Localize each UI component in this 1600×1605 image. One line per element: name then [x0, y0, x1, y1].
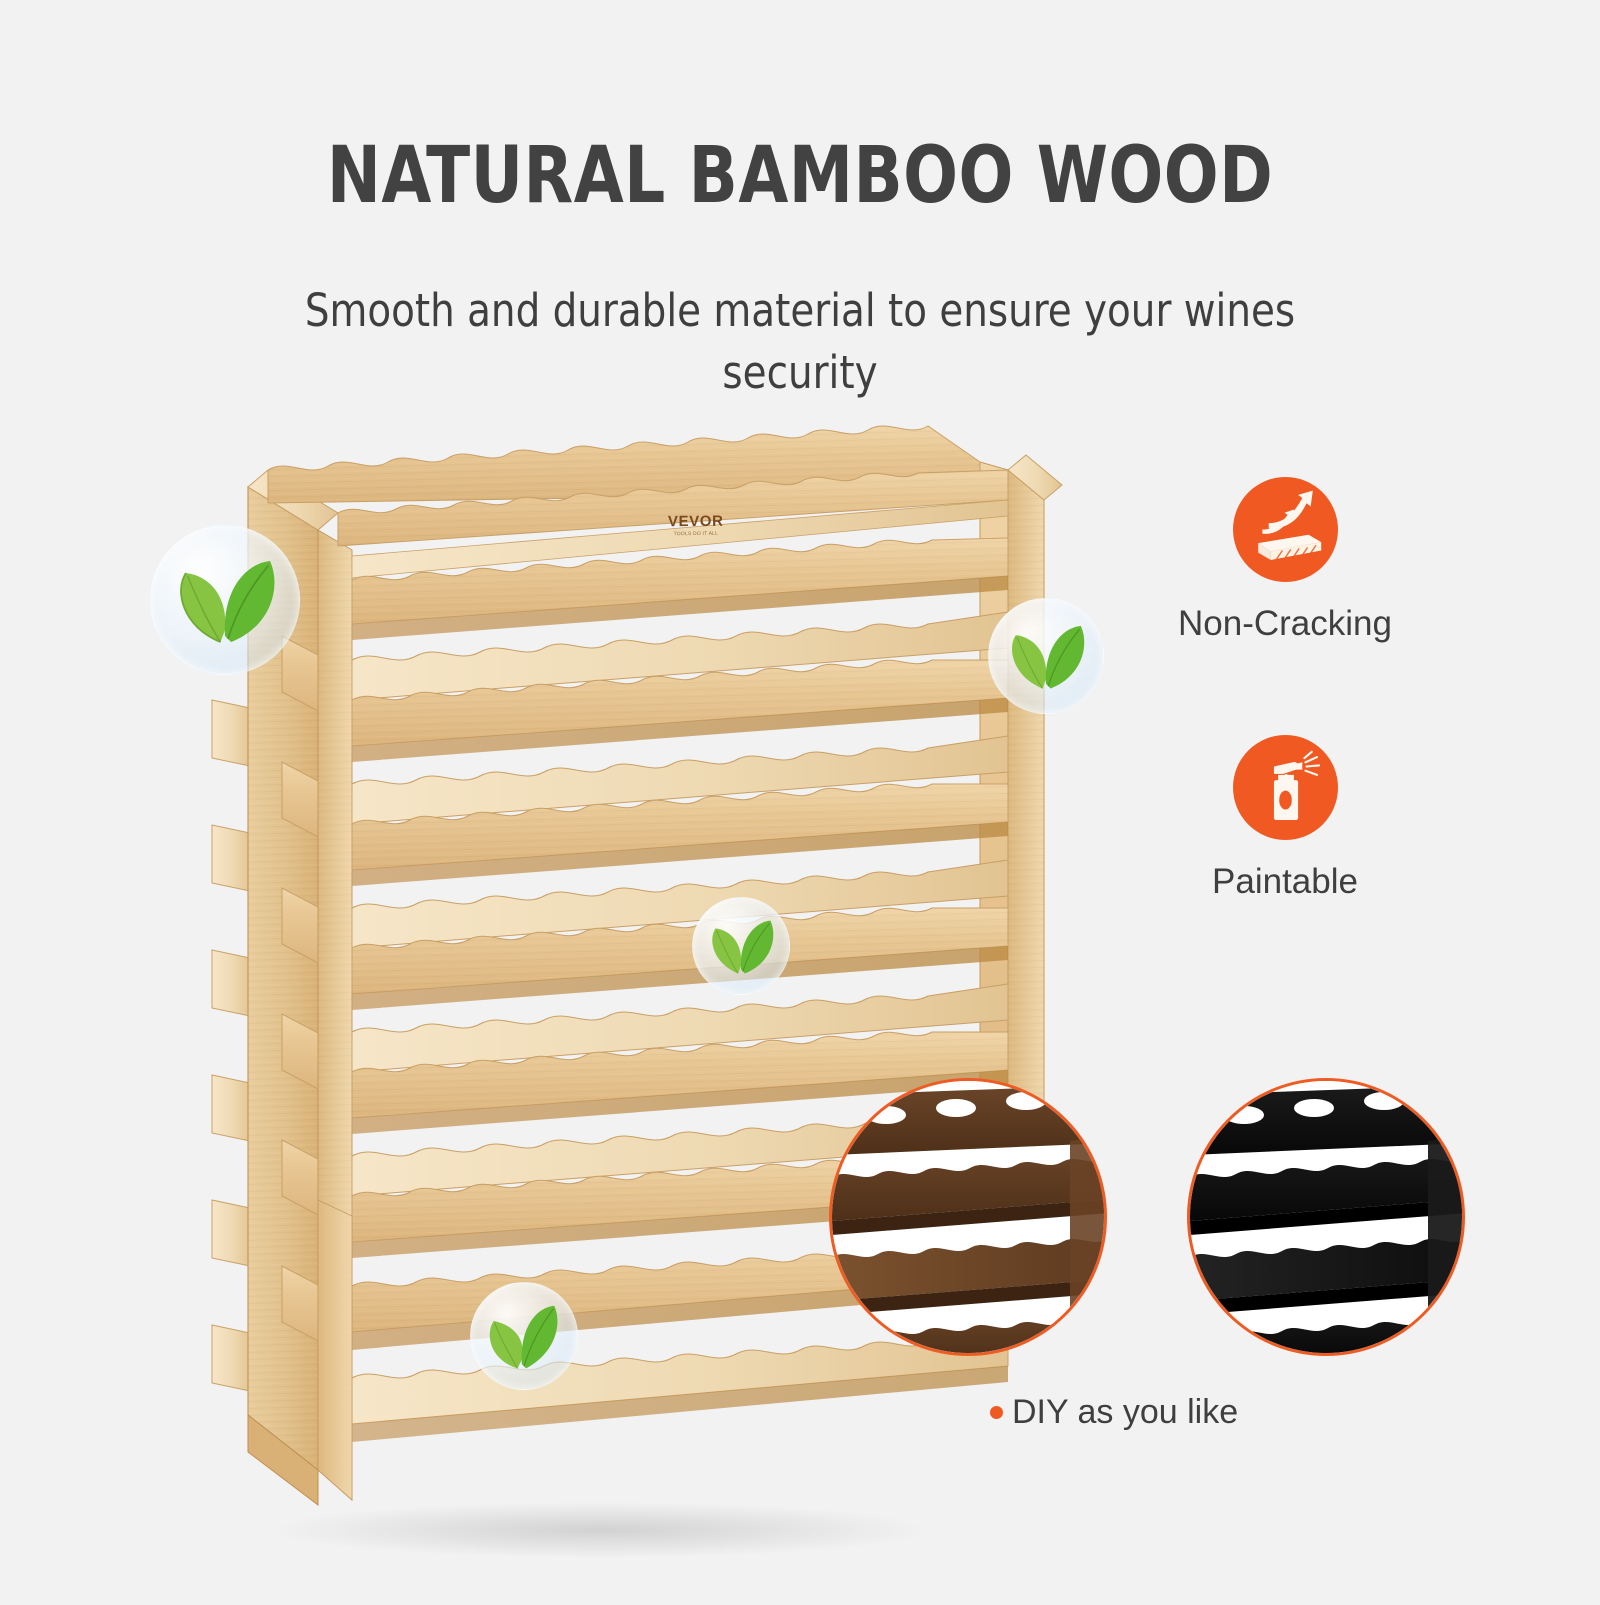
diy-caption: DIY as you like — [990, 1393, 1238, 1432]
green-leaf-icon — [692, 897, 790, 995]
leaf-badge-bottom — [470, 1282, 578, 1390]
plank-with-rising-arrows-icon — [1233, 477, 1338, 582]
leaf-badge-left — [150, 525, 300, 675]
green-leaf-icon — [150, 525, 300, 675]
feature-icon-badge — [1233, 735, 1338, 840]
spray-bottle-icon — [1233, 735, 1338, 840]
brand-logo: VEVOR TOOLS DO IT ALL — [668, 513, 724, 538]
feature-label: Non-Cracking — [1135, 604, 1435, 644]
black-rack-closeup — [1190, 1081, 1465, 1356]
green-leaf-icon — [470, 1282, 578, 1390]
leaf-badge-center — [692, 897, 790, 995]
diy-swatch-black[interactable] — [1187, 1078, 1465, 1356]
green-leaf-icon — [988, 598, 1104, 714]
table-row — [352, 1330, 1008, 1442]
feature-icon-badge — [1233, 477, 1338, 582]
bullet-icon — [990, 1406, 1003, 1419]
brand-name: VEVOR — [668, 513, 724, 531]
feature-label: Paintable — [1135, 862, 1435, 902]
feature-paintable: Paintable — [1135, 735, 1435, 902]
leaf-badge-right — [988, 598, 1104, 714]
dark-wood-rack-closeup — [832, 1081, 1107, 1356]
diy-swatch-dark-walnut[interactable] — [829, 1078, 1107, 1356]
feature-non-cracking: Non-Cracking — [1135, 477, 1435, 644]
diy-caption-text: DIY as you like — [1012, 1393, 1238, 1431]
brand-tagline: TOOLS DO IT ALL — [668, 531, 724, 538]
